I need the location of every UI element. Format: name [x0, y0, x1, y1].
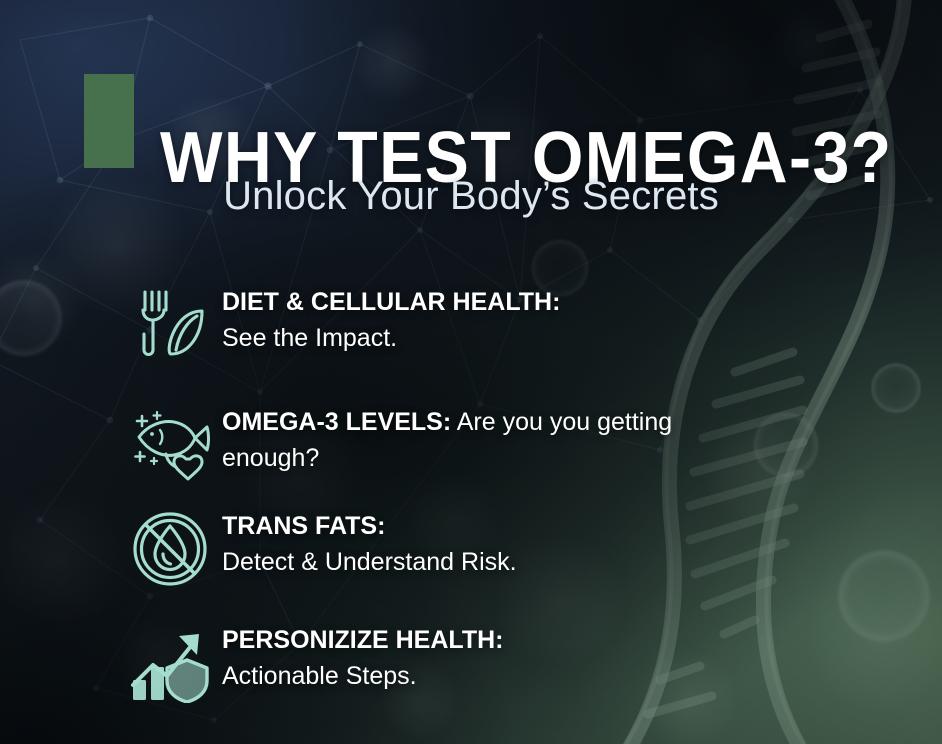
list-item-text: PERSONIZIZE HEALTH: Actionable Steps.: [222, 614, 758, 694]
list-item-heading: PERSONIZIZE HEALTH:: [222, 626, 503, 654]
list-item-text: OMEGA-3 LEVELS: Are you you getting enou…: [222, 396, 758, 476]
list-item-text: DIET & CELLULAR HEALTH: See the Impact.: [222, 276, 758, 356]
green-accent-bar: [84, 74, 134, 168]
list-item-body: Actionable Steps.: [222, 662, 417, 690]
list-item-text: TRANS FATS: Detect & Understand Risk.: [222, 500, 758, 580]
list-item-heading: DIET & CELLULAR HEALTH:: [222, 288, 560, 316]
list-item-heading: OMEGA-3 LEVELS:: [222, 408, 451, 436]
poster-content: WHY TEST OMEGA-3? Unlock Your Body’s Sec…: [0, 0, 942, 744]
list-item: TRANS FATS: Detect & Understand Risk.: [118, 500, 758, 600]
benefits-list: DIET & CELLULAR HEALTH: See the Impact.: [118, 276, 758, 724]
list-item-heading: TRANS FATS:: [222, 512, 385, 540]
page-subtitle: Unlock Your Body’s Secrets: [0, 174, 942, 219]
list-item-body: Detect & Understand Risk.: [222, 548, 517, 576]
list-item-body: See the Impact.: [222, 324, 397, 352]
growth-chart-shield-icon: [118, 620, 222, 706]
fork-leaf-icon: [118, 282, 222, 368]
list-item: PERSONIZIZE HEALTH: Actionable Steps.: [118, 614, 758, 714]
fish-heart-icon: [118, 402, 222, 488]
no-trans-fat-droplet-icon: [118, 506, 222, 592]
list-item: DIET & CELLULAR HEALTH: See the Impact.: [118, 276, 758, 376]
omega3-infographic-poster: WHY TEST OMEGA-3? Unlock Your Body’s Sec…: [0, 0, 942, 744]
list-item: OMEGA-3 LEVELS: Are you you getting enou…: [118, 396, 758, 496]
